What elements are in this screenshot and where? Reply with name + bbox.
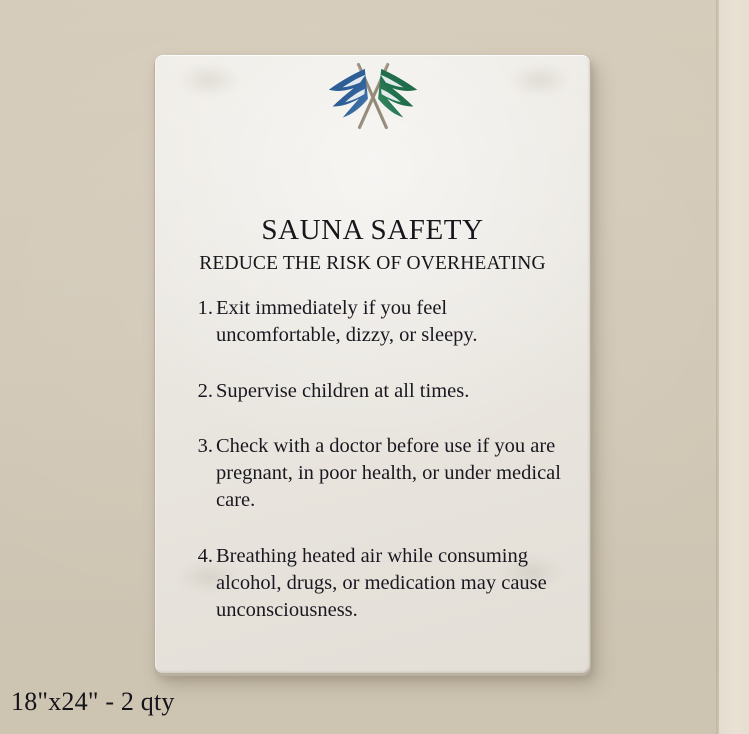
sauna-safety-sign: SAUNA SAFETY REDUCE THE RISK OF OVERHEAT…	[155, 55, 590, 673]
list-item-text: Breathing heated air while consuming alc…	[216, 543, 566, 625]
sign-title: SAUNA SAFETY	[155, 215, 590, 245]
list-item: 1. Exit immediately if you feel uncomfor…	[188, 295, 566, 350]
list-item: 3. Check with a doctor before use if you…	[188, 433, 566, 515]
list-item-number: 1.	[188, 295, 216, 322]
list-item-number: 2.	[188, 378, 216, 405]
product-caption: 18"x24" - 2 qty	[11, 687, 175, 717]
wall-right-strip	[719, 0, 749, 734]
product-photo-scene: SAUNA SAFETY REDUCE THE RISK OF OVERHEAT…	[0, 0, 749, 734]
sign-subtitle: REDUCE THE RISK OF OVERHEATING	[155, 253, 590, 274]
list-item-number: 3.	[188, 433, 216, 460]
list-item-number: 4.	[188, 543, 216, 570]
logo-area	[155, 55, 590, 141]
list-item-text: Exit immediately if you feel uncomfortab…	[216, 295, 566, 350]
list-item-text: Check with a doctor before use if you ar…	[216, 433, 566, 515]
list-item: 4. Breathing heated air while consuming …	[188, 543, 566, 625]
crossed-flags-icon	[313, 56, 433, 136]
list-item-text: Supervise children at all times.	[216, 378, 566, 405]
safety-rules-list: 1. Exit immediately if you feel uncomfor…	[188, 295, 566, 624]
list-item: 2. Supervise children at all times.	[188, 378, 566, 405]
sign-content: SAUNA SAFETY REDUCE THE RISK OF OVERHEAT…	[155, 55, 590, 673]
